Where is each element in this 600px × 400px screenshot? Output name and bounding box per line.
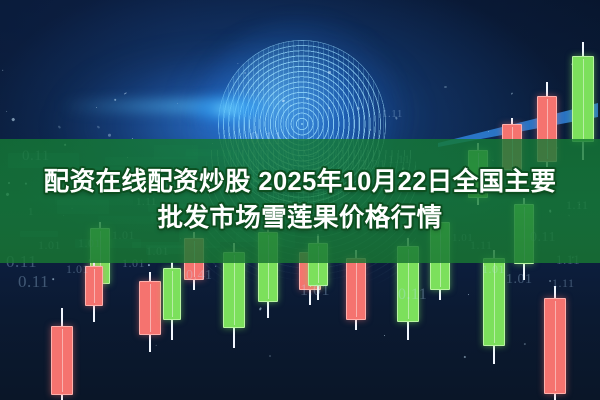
light-flare [168, 86, 288, 132]
candlestick-up [163, 262, 181, 340]
candlestick-down [139, 272, 161, 352]
candlestick-down [544, 286, 566, 400]
headline-line-1: 配资在线配资炒股 2025年10月22日全国主要 [44, 167, 557, 199]
price-tick: 0.11 [18, 272, 49, 292]
particle-speck [306, 98, 309, 100]
candle-body [139, 281, 161, 335]
price-tick: 1.11 [552, 276, 575, 291]
particle-speck [369, 129, 371, 131]
headline-line-2: 批发市场雪莲果价格行情 [158, 203, 443, 235]
price-tick: 0.11 [398, 286, 427, 304]
candle-body [163, 268, 181, 320]
price-tick: 1.01 [506, 272, 533, 288]
price-tick: 1.11 [382, 108, 403, 120]
particle-speck [108, 134, 111, 137]
headline-block: 配资在线配资炒股 2025年10月22日全国主要 批发市场雪莲果价格行情 [0, 139, 600, 263]
price-tick: 1.01 [66, 262, 89, 277]
candle-body [572, 56, 594, 142]
price-tick: 1.01 [300, 282, 330, 300]
particle-speck [524, 343, 526, 345]
candle-body [346, 258, 366, 320]
banner-image: 0.110.110.110.111.011.011.011.011.011.01… [0, 0, 600, 400]
particle-speck [148, 264, 150, 266]
candle-body [544, 298, 566, 394]
price-tick: 1.01 [482, 262, 505, 277]
candle-body [223, 252, 245, 328]
candle-body [51, 326, 73, 395]
candlestick-down [51, 308, 73, 400]
price-tick: 0.41 [186, 268, 213, 284]
